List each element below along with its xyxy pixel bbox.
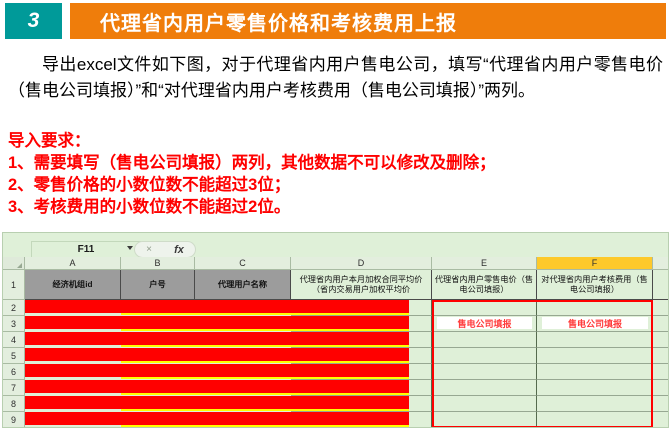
cell-f7[interactable] (537, 380, 653, 396)
header-cell-b[interactable]: 户号 (121, 270, 195, 300)
cell-g8[interactable] (653, 396, 669, 412)
slide-header-banner: 3 代理省内用户零售价格和考核费用上报 (0, 3, 671, 39)
formula-bar-tools: × fx (134, 241, 196, 258)
requirements-block: 导入要求： 1、需要填写（售电公司填报）两列，其他数据不可以修改及删除； 2、零… (8, 130, 663, 218)
header-cell-a[interactable]: 经济机组id (25, 270, 121, 300)
select-all-corner[interactable] (3, 257, 25, 270)
row-header-9[interactable]: 9 (3, 412, 25, 428)
cell-g3[interactable] (653, 316, 669, 332)
row-header-3[interactable]: 3 (3, 316, 25, 332)
header-cell-d[interactable]: 代理省内用户本月加权合同平均价（省内交易用户加权平均价 (291, 270, 432, 300)
cell-f8[interactable] (537, 396, 653, 412)
cell-e9[interactable] (432, 412, 537, 428)
row-header-6[interactable]: 6 (3, 364, 25, 380)
redaction-bar-row2 (25, 300, 409, 313)
chevron-down-icon[interactable] (127, 246, 133, 250)
cell-g5[interactable] (653, 348, 669, 364)
row-header-2[interactable]: 2 (3, 300, 25, 316)
page-title: 代理省内用户零售价格和考核费用上报 (70, 3, 666, 39)
cell-e5[interactable] (432, 348, 537, 364)
insert-function-icon[interactable]: fx (174, 244, 184, 256)
cell-g7[interactable] (653, 380, 669, 396)
cell-g2[interactable] (653, 300, 669, 316)
redaction-bar-row4 (25, 332, 409, 345)
cell-g4[interactable] (653, 332, 669, 348)
requirement-item-1: 1、需要填写（售电公司填报）两列，其他数据不可以修改及删除； (8, 152, 663, 174)
header-cell-e[interactable]: 代理省内用户零售电价（售电公司填报） (432, 270, 537, 300)
column-header-a[interactable]: A (25, 257, 121, 270)
cell-f2[interactable] (537, 300, 653, 316)
redaction-bar-row8 (25, 396, 409, 409)
name-box[interactable]: F11 (31, 241, 141, 258)
cell-g9[interactable] (653, 412, 669, 428)
redaction-bar-row9 (25, 412, 409, 425)
excel-grid: A B C D E F 1 2 3 4 5 6 7 8 9 10 经济机组id … (3, 257, 669, 427)
redaction-bar-row7 (25, 380, 409, 393)
section-number-badge: 3 (5, 3, 62, 39)
fill-note-f3: 售电公司填报 (542, 317, 648, 329)
cell-e4[interactable] (432, 332, 537, 348)
column-header-b[interactable]: B (121, 257, 195, 270)
corner-triangle-icon (17, 263, 22, 268)
row-header-7[interactable]: 7 (3, 380, 25, 396)
row-header-5[interactable]: 5 (3, 348, 25, 364)
formula-input[interactable] (199, 241, 667, 258)
cell-e2[interactable] (432, 300, 537, 316)
redaction-bar-row6 (25, 364, 409, 377)
column-header-d[interactable]: D (291, 257, 432, 270)
cell-e7[interactable] (432, 380, 537, 396)
column-header-row: A B C D E F (3, 257, 669, 270)
column-header-f[interactable]: F (537, 257, 653, 270)
cell-e8[interactable] (432, 396, 537, 412)
excel-screenshot: F11 × fx A B C D E F 1 2 3 4 5 6 7 8 9 1… (2, 232, 669, 428)
cell-e6[interactable] (432, 364, 537, 380)
header-cell-f[interactable]: 对代理省内用户考核费用（售电公司填报） (537, 270, 653, 300)
cancel-icon[interactable]: × (146, 244, 152, 255)
fill-note-e3: 售电公司填报 (437, 317, 532, 329)
row-header-4[interactable]: 4 (3, 332, 25, 348)
column-header-c[interactable]: C (195, 257, 291, 270)
redaction-bar-row3 (25, 316, 409, 329)
intro-paragraph: 导出excel文件如下图，对于代理省内用户售电公司，填写“代理省内用户零售电价（… (8, 52, 663, 104)
header-cell-g[interactable] (653, 270, 669, 300)
column-header-g[interactable] (653, 257, 669, 270)
requirement-item-2: 2、零售价格的小数位数不能超过3位； (8, 174, 663, 196)
requirements-heading: 导入要求： (8, 130, 663, 152)
row-header-8[interactable]: 8 (3, 396, 25, 412)
cell-g6[interactable] (653, 364, 669, 380)
cell-f9[interactable] (537, 412, 653, 428)
requirement-item-3: 3、考核费用的小数位数不能超过2位。 (8, 196, 663, 218)
header-cell-c[interactable]: 代理用户名称 (195, 270, 291, 300)
excel-formula-bar: F11 × fx (3, 237, 669, 255)
row-header-1[interactable]: 1 (3, 270, 25, 300)
redaction-bar-row5 (25, 348, 409, 361)
column-header-e[interactable]: E (432, 257, 537, 270)
cell-f6[interactable] (537, 364, 653, 380)
cell-f5[interactable] (537, 348, 653, 364)
cell-f4[interactable] (537, 332, 653, 348)
